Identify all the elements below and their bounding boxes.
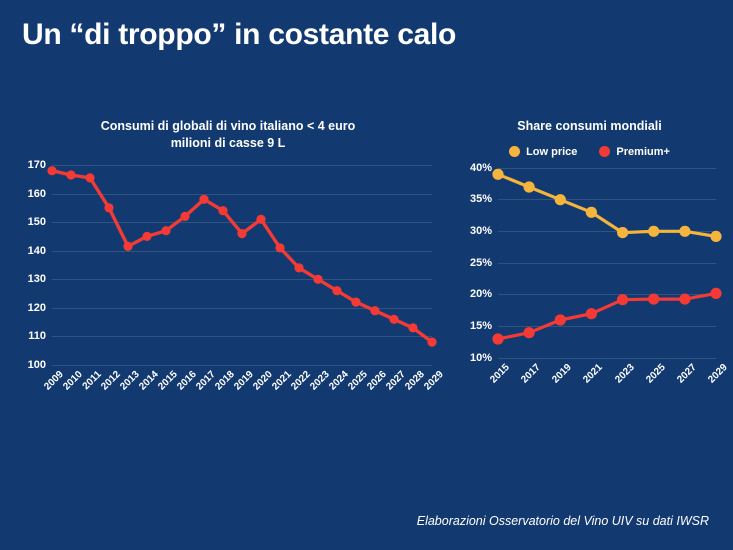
y-axis-tick-label: 110 (28, 330, 46, 342)
left-chart-title: Consumi di globali di vino italiano < 4 … (8, 118, 448, 151)
left-chart-panel: Consumi di globali di vino italiano < 4 … (8, 118, 448, 418)
left-x-axis-labels: 2009201020112012201320142015201620172018… (52, 365, 432, 411)
y-axis-tick-label: 120 (28, 302, 46, 314)
data-point-marker (180, 212, 189, 221)
y-axis-tick-label: 100 (28, 359, 46, 371)
x-axis-tick-label: 2021 (569, 362, 605, 398)
data-point-marker (275, 243, 284, 252)
left-chart-title-line2: milioni di casse 9 L (36, 135, 420, 152)
data-point-marker (389, 315, 398, 324)
right-plot-area: 40%35%30%25%20%15%10% 201520172019202120… (452, 168, 727, 358)
data-point-marker (427, 338, 436, 347)
data-point-marker (586, 308, 597, 319)
circle-marker-icon (509, 146, 520, 157)
data-point-marker (710, 230, 721, 241)
y-axis-tick-label: 130 (28, 273, 46, 285)
x-axis-tick-label: 2017 (507, 362, 543, 398)
right-chart-title: Share consumi mondiali (452, 118, 727, 135)
data-point-marker (313, 275, 322, 284)
data-point-marker (123, 242, 132, 251)
legend-label: Low price (526, 146, 577, 158)
data-point-marker (370, 306, 379, 315)
y-axis-tick-label: 30% (470, 225, 492, 237)
y-axis-tick-label: 20% (470, 288, 492, 300)
y-axis-tick-label: 150 (28, 216, 46, 228)
data-point-marker (142, 232, 151, 241)
x-axis-tick-label: 2019 (538, 362, 574, 398)
data-point-marker (586, 206, 597, 217)
y-axis-tick-label: 35% (470, 193, 492, 205)
data-point-marker (47, 166, 56, 175)
y-axis-tick-label: 15% (470, 320, 492, 332)
y-axis-tick-label: 170 (28, 159, 46, 171)
slide-canvas: Un “di troppo” in costante calo Consumi … (0, 0, 733, 550)
y-axis-tick-label: 160 (28, 188, 46, 200)
data-point-marker (104, 203, 113, 212)
circle-marker-icon (599, 146, 610, 157)
data-point-marker (617, 294, 628, 305)
x-axis-tick-label: 2029 (694, 362, 730, 398)
data-point-marker (492, 333, 503, 344)
y-axis-tick-label: 25% (470, 257, 492, 269)
data-point-marker (555, 314, 566, 325)
data-point-marker (161, 226, 170, 235)
legend-item[interactable]: Low price (509, 146, 577, 158)
data-point-marker (199, 195, 208, 204)
data-point-marker (408, 323, 417, 332)
data-point-marker (332, 286, 341, 295)
x-axis-tick-label: 2023 (600, 362, 636, 398)
y-axis-tick-label: 40% (470, 162, 492, 174)
data-point-marker (679, 225, 690, 236)
x-axis-tick-label: 2027 (663, 362, 699, 398)
data-point-marker (294, 263, 303, 272)
right-chart-panel: Share consumi mondiali Low pricePremium+… (452, 118, 727, 418)
data-point-marker (351, 298, 360, 307)
y-axis-tick-label: 10% (470, 352, 492, 364)
right-y-axis-labels: 40%35%30%25%20%15%10% (452, 168, 492, 358)
data-point-marker (237, 229, 246, 238)
right-chart-legend: Low pricePremium+ (452, 146, 727, 158)
data-point-marker (66, 170, 75, 179)
data-point-marker (524, 327, 535, 338)
data-point-marker (256, 215, 265, 224)
data-point-marker (648, 225, 659, 236)
left-line-series (52, 165, 432, 365)
data-point-marker (679, 293, 690, 304)
left-plot-area: 170160150140130120110100 200920102011201… (8, 165, 448, 365)
x-axis-tick-label: 2025 (631, 362, 667, 398)
data-point-marker (218, 206, 227, 215)
data-point-marker (524, 181, 535, 192)
x-axis-tick-label: 2015 (476, 362, 512, 398)
source-footer: Elaborazioni Osservatorio del Vino UIV s… (417, 514, 709, 528)
page-title: Un “di troppo” in costante calo (22, 18, 456, 52)
legend-item[interactable]: Premium+ (599, 146, 670, 158)
legend-label: Premium+ (616, 146, 670, 158)
y-axis-tick-label: 140 (28, 245, 46, 257)
data-point-marker (555, 194, 566, 205)
series-line (52, 171, 432, 342)
data-point-marker (710, 287, 721, 298)
left-chart-title-line1: Consumi di globali di vino italiano < 4 … (36, 118, 420, 135)
data-point-marker (85, 173, 94, 182)
right-line-series (498, 168, 716, 358)
right-x-axis-labels: 20152017201920212023202520272029 (498, 358, 716, 404)
data-point-marker (617, 227, 628, 238)
data-point-marker (492, 168, 503, 179)
left-y-axis-labels: 170160150140130120110100 (8, 165, 46, 365)
data-point-marker (648, 293, 659, 304)
